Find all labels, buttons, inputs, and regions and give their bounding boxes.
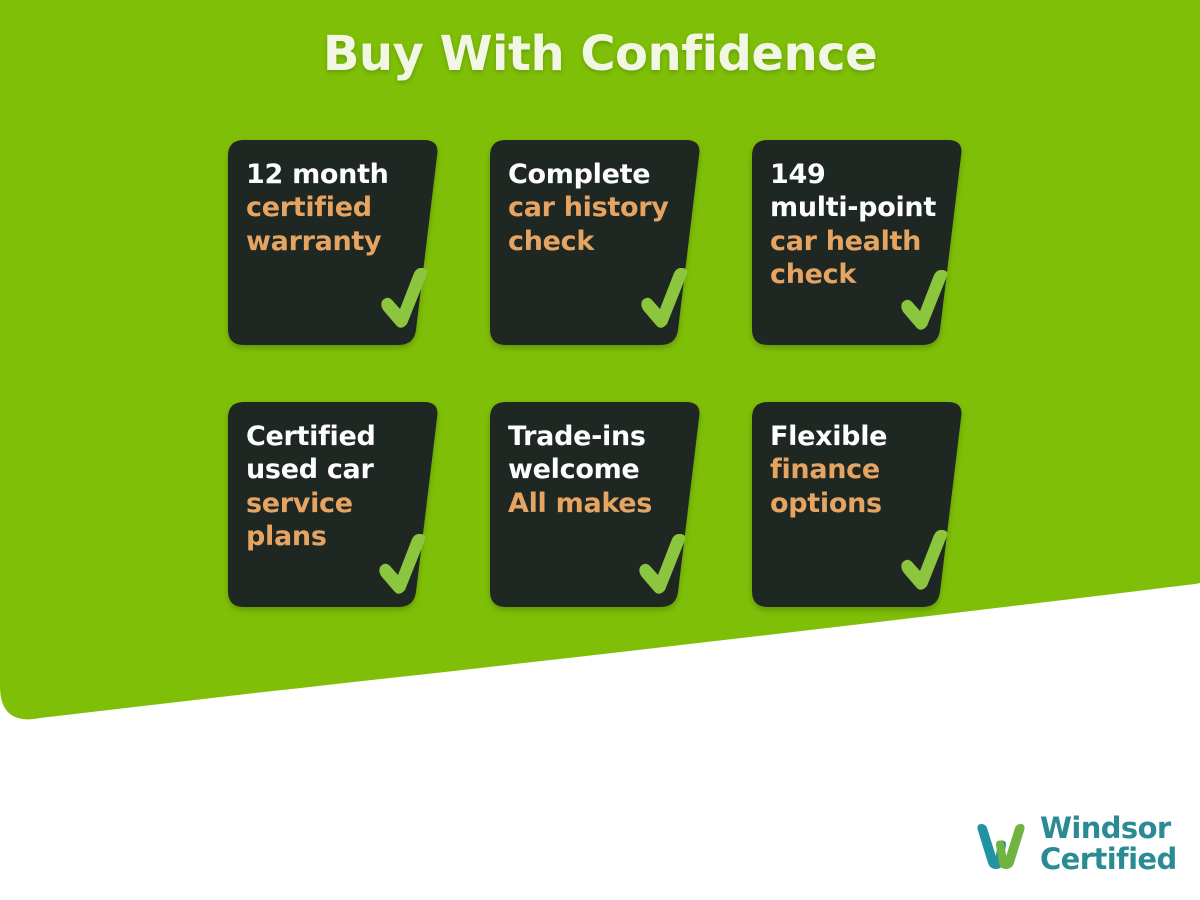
card-line: check	[508, 225, 684, 258]
checkmark-icon	[376, 534, 428, 598]
card-line: 149	[770, 158, 946, 191]
checkmark-icon	[378, 268, 430, 332]
checkmark-icon	[898, 530, 950, 594]
card-text: Complete car history check	[508, 158, 684, 258]
card-line: finance	[770, 453, 946, 486]
windsor-w-mark-icon	[973, 815, 1031, 873]
card-line: multi-point	[770, 191, 946, 224]
checkmark-icon	[898, 270, 950, 334]
logo-wordmark: Windsor Certified	[1040, 814, 1177, 874]
feature-card[interactable]: 149 multi-point car health check	[752, 140, 964, 345]
card-line: certified	[246, 191, 422, 224]
card-text: 12 month certified warranty	[246, 158, 422, 258]
card-line: All makes	[508, 487, 684, 520]
card-line: welcome	[508, 453, 684, 486]
card-text: Trade-ins welcome All makes	[508, 420, 684, 520]
checkmark-icon	[638, 268, 690, 332]
card-line: Certified	[246, 420, 422, 453]
feature-card[interactable]: 12 month certified warranty	[228, 140, 440, 345]
card-line: used car	[246, 453, 422, 486]
feature-card[interactable]: Trade-ins welcome All makes	[490, 402, 702, 607]
card-line: warranty	[246, 225, 422, 258]
card-line: Flexible	[770, 420, 946, 453]
page-title: Buy With Confidence	[0, 26, 1200, 82]
poster-canvas: Buy With Confidence 12 month certified w…	[0, 0, 1200, 900]
card-line: Complete	[508, 158, 684, 191]
card-line: options	[770, 487, 946, 520]
card-line: 12 month	[246, 158, 422, 191]
feature-card[interactable]: Flexible finance options	[752, 402, 964, 607]
feature-card-grid: 12 month certified warranty Complete car…	[228, 140, 988, 610]
card-text: Flexible finance options	[770, 420, 946, 520]
card-line: service	[246, 487, 422, 520]
card-line: car health	[770, 225, 946, 258]
checkmark-icon	[636, 534, 688, 598]
card-line: car history	[508, 191, 684, 224]
logo-word-windsor: Windsor	[1040, 814, 1177, 843]
feature-card[interactable]: Complete car history check	[490, 140, 702, 345]
card-line: Trade-ins	[508, 420, 684, 453]
feature-card[interactable]: Certified used car service plans	[228, 402, 440, 607]
logo-word-certified: Certified	[1040, 845, 1177, 874]
windsor-certified-logo[interactable]: Windsor Certified	[973, 808, 1163, 880]
